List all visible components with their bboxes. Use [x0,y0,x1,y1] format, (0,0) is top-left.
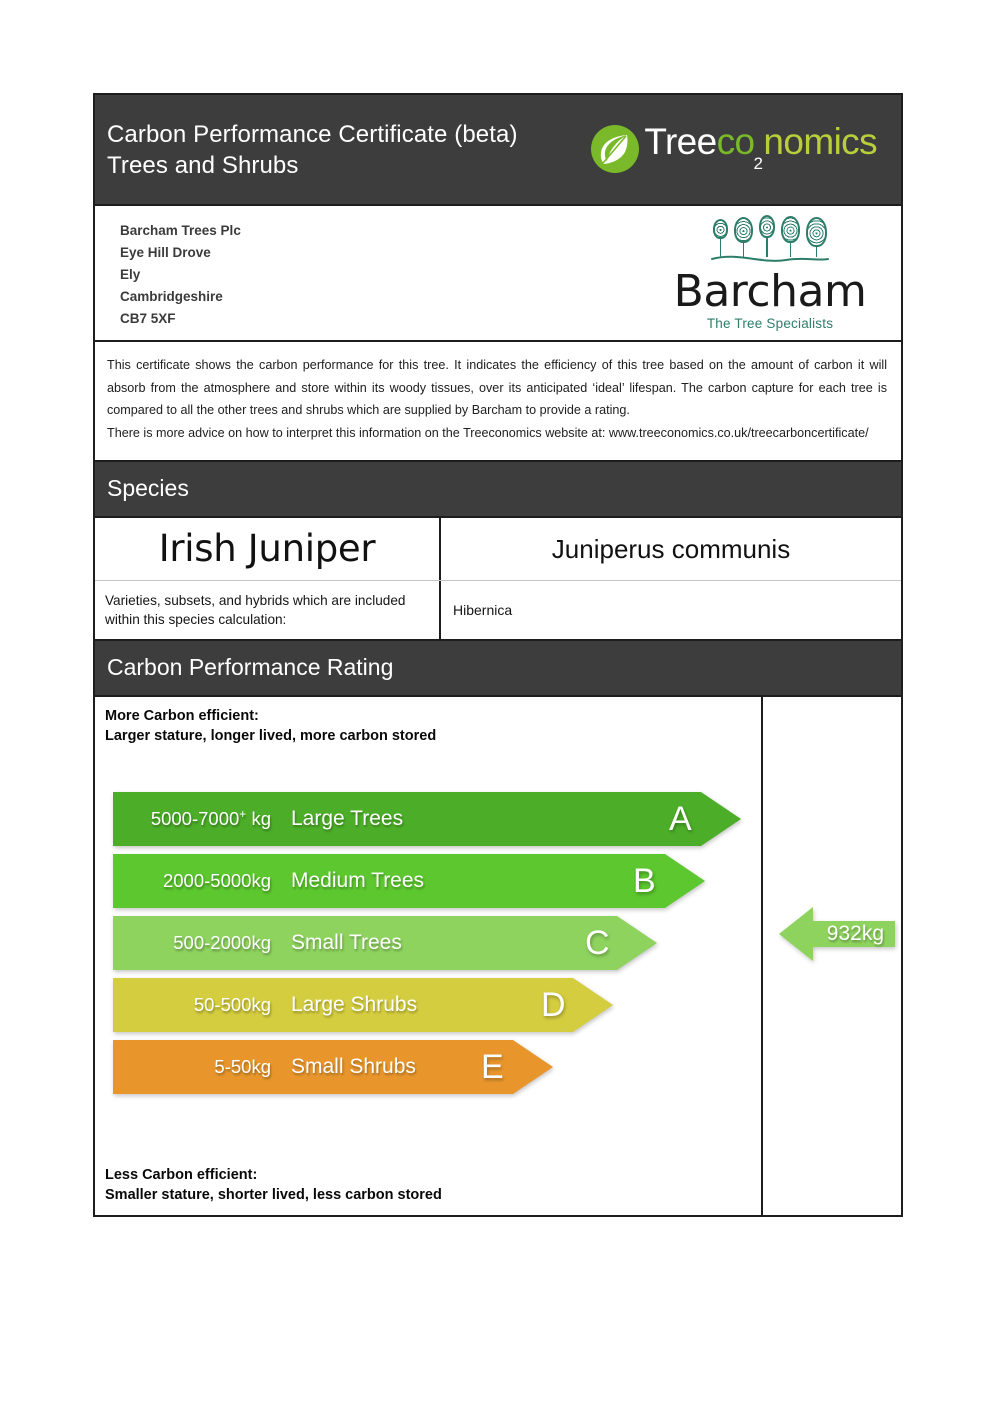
tree-icon [734,217,753,257]
treeconomics-logo: Treeco2nomics [589,123,877,175]
result-arrow: 932kg [779,903,895,965]
address-line: CB7 5XF [120,308,639,330]
band-category-label: Small Shrubs [291,1055,416,1079]
less-efficient-line-2: Smaller stature, shorter lived, less car… [105,1185,761,1205]
band-category-label: Large Trees [291,807,403,831]
barcham-logo: Barcham The Tree Specialists [639,206,901,340]
rating-band-c: 500-2000kgSmall TreesC [113,916,657,970]
band-grade-letter: A [669,802,692,836]
band-list: 5000-7000+ kgLarge TreesA2000-5000kgMedi… [95,750,761,1165]
more-efficient-note: More Carbon efficient: Larger stature, l… [95,706,761,746]
species-latin-name-cell: Juniperus communis [441,518,901,580]
tree-icon [806,217,827,257]
intro-paragraph-1: This certificate shows the carbon perfor… [107,354,887,422]
species-section-heading: Species [95,460,901,516]
species-common-name-cell: Irish Juniper [95,518,441,580]
species-latin-name: Juniperus communis [441,518,901,580]
more-efficient-line-2: Larger stature, longer lived, more carbo… [105,726,761,746]
species-varieties-row: Varieties, subsets, and hybrids which ar… [95,581,901,639]
band-grade-letter: D [541,988,566,1022]
rating-band-a: 5000-7000+ kgLarge TreesA [113,792,741,846]
species-name-row: Irish Juniper Juniperus communis [95,518,901,581]
less-efficient-note: Less Carbon efficient: Smaller stature, … [95,1165,761,1215]
title-line-2: Trees and Shrubs [107,150,518,181]
band-category-label: Large Shrubs [291,993,417,1017]
title-line-1: Carbon Performance Certificate (beta) [107,119,518,150]
barcham-wordmark: Barcham [674,269,867,315]
more-efficient-line-1: More Carbon efficient: [105,706,761,726]
intro-text-block: This certificate shows the carbon perfor… [95,340,901,460]
rating-band-e: 5-50kgSmall ShrubsE [113,1040,553,1094]
leaf-icon [589,123,641,175]
rating-chart: More Carbon efficient: Larger stature, l… [95,695,901,1215]
address-line: Barcham Trees Plc [120,220,639,242]
band-grade-letter: B [633,864,656,898]
band-range-label: 500-2000kg [123,932,271,954]
rating-band-d: 50-500kgLarge ShrubsD [113,978,613,1032]
fingerprint-trees-icon [713,211,827,257]
tree-icon [759,215,775,257]
band-range-label: 50-500kg [123,994,271,1016]
band-range-label: 5-50kg [123,1056,271,1078]
less-efficient-line-1: Less Carbon efficient: [105,1165,761,1185]
varieties-label-cell: Varieties, subsets, and hybrids which ar… [95,581,441,639]
logo-part-co: co [717,121,755,162]
result-column: 932kg [763,697,901,1215]
address-line: Eye Hill Drove [120,242,639,264]
band-range-label: 2000-5000kg [123,870,271,892]
band-grade-letter: E [481,1050,504,1084]
varieties-label: Varieties, subsets, and hybrids which ar… [95,581,439,639]
address-line: Cambridgeshire [120,286,639,308]
barcham-tagline: The Tree Specialists [707,316,833,331]
logo-part-tree: Tree [644,121,716,162]
result-value: 932kg [827,922,895,946]
band-grade-letter: C [585,926,610,960]
band-range-label: 5000-7000+ kg [123,807,271,830]
rating-section-heading: Carbon Performance Rating [95,639,901,695]
address-line: Ely [120,264,639,286]
page-title: Carbon Performance Certificate (beta) Tr… [107,119,518,181]
certificate-title-bar: Carbon Performance Certificate (beta) Tr… [95,95,901,204]
treeconomics-wordmark: Treeco2nomics [644,123,877,175]
rating-band-b: 2000-5000kgMedium TreesB [113,854,705,908]
band-category-label: Medium Trees [291,869,424,893]
intro-paragraph-2: There is more advice on how to interpret… [107,422,887,445]
species-common-name: Irish Juniper [159,518,376,580]
company-row: Barcham Trees Plc Eye Hill Drove Ely Cam… [95,204,901,340]
logo-subscript-2: 2 [754,154,763,173]
rating-bands-column: More Carbon efficient: Larger stature, l… [95,697,763,1215]
company-address: Barcham Trees Plc Eye Hill Drove Ely Cam… [95,206,639,340]
tree-icon [781,216,800,257]
band-category-label: Small Trees [291,931,402,955]
logo-part-nomics: nomics [763,121,877,162]
tree-icon [713,219,728,257]
carbon-performance-certificate: Carbon Performance Certificate (beta) Tr… [93,93,903,1217]
varieties-value-cell: Hibernica [441,581,901,639]
varieties-value: Hibernica [441,602,512,618]
species-table: Irish Juniper Juniperus communis Varieti… [95,516,901,639]
